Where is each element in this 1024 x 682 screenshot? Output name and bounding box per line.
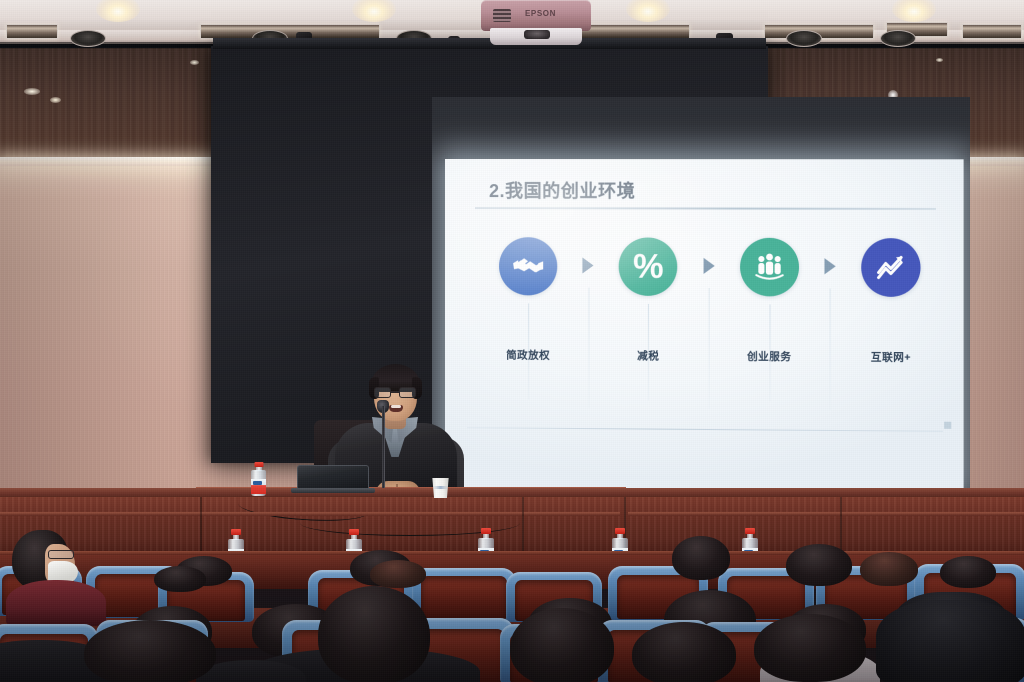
slide-corner-mark: [944, 422, 951, 429]
slide-title-underline: [475, 207, 936, 210]
ceiling-speaker: [880, 30, 916, 47]
percent-glyph: %: [633, 250, 664, 284]
projector-lens-housing: [490, 28, 582, 45]
process-step-2: % 减税: [601, 237, 696, 363]
stage-rail: [0, 512, 200, 516]
audience-head: [318, 586, 430, 682]
stage-rail: [200, 512, 620, 516]
step-divider-line: [588, 288, 589, 408]
projector-vent-grille: [493, 9, 511, 22]
process-step-4: 互联网+: [843, 238, 939, 365]
projector-lens: [524, 30, 550, 39]
audience-head: [876, 600, 1024, 682]
audience-head: [786, 544, 852, 586]
people-group-icon: [740, 238, 799, 297]
trend-chart-icon: [861, 238, 920, 297]
handshake-icon: [499, 237, 557, 295]
audience-head: [860, 552, 918, 586]
step-divider-line: [709, 288, 710, 409]
laptop-base: [291, 488, 375, 493]
projector-body: EPSON: [481, 0, 591, 31]
audience-head: [632, 622, 736, 682]
wall-light-speck: [24, 88, 40, 95]
triangle-right-icon: [696, 258, 722, 274]
auditorium-chair[interactable]: [412, 568, 516, 620]
bench-top-edge: [0, 551, 1024, 555]
projected-slide: 2.我国的创业环境: [445, 159, 964, 492]
eyeglasses-icon: [373, 387, 418, 398]
audience-shoulders: [6, 580, 106, 626]
process-step-3: 创业服务: [722, 238, 817, 364]
step-divider-line: [648, 304, 649, 401]
audience-head: [940, 556, 996, 588]
water-bottle[interactable]: [251, 462, 266, 496]
ceiling-speaker: [786, 30, 822, 47]
percent-icon: %: [619, 237, 678, 296]
audience-head: [84, 620, 216, 682]
audience-head: [510, 608, 614, 682]
lecture-hall-photo: EPSON 2.我国的创业环境: [0, 0, 1024, 682]
laptop[interactable]: [297, 465, 369, 490]
panel-seam: [200, 497, 202, 557]
wall-light-speck: [50, 97, 61, 103]
triangle-right-icon: [817, 258, 843, 274]
audience-head: [154, 566, 206, 592]
triangle-right-icon: [575, 257, 601, 273]
projection-screen-frame: 2.我国的创业环境: [211, 46, 768, 463]
panel-seam: [522, 497, 524, 557]
slide-title: 2.我国的创业环境: [489, 177, 635, 203]
ceiling-mounted-projector: EPSON: [476, 0, 596, 46]
process-step-1: 简政放权: [481, 237, 575, 363]
audience-head: [672, 536, 730, 580]
stage-rail: [628, 512, 1024, 516]
wall-light-speck: [190, 60, 199, 65]
slide-footer-rule: [467, 427, 943, 432]
eyeglasses-icon: [48, 550, 74, 559]
step-divider-line: [769, 304, 770, 401]
audience-head: [754, 614, 866, 682]
projector-brand-label: EPSON: [525, 9, 556, 18]
step-divider-line: [830, 289, 831, 410]
step-divider-line: [528, 303, 529, 399]
wall-light-speck: [936, 58, 943, 62]
ceiling-light-fixture: [6, 24, 58, 39]
ceiling-light-fixture: [200, 24, 380, 39]
presenter-mouth: [389, 405, 403, 412]
ceiling-speaker: [70, 30, 106, 47]
slide-process-chain: 简政放权 % 减税: [481, 237, 939, 410]
audience-head: [370, 560, 426, 588]
paper-cup[interactable]: [431, 478, 450, 498]
ceiling-light-fixture: [962, 24, 1022, 39]
projection-screen-surface: 2.我国的创业环境: [432, 97, 970, 502]
process-step-4-label: 互联网+: [871, 349, 911, 364]
